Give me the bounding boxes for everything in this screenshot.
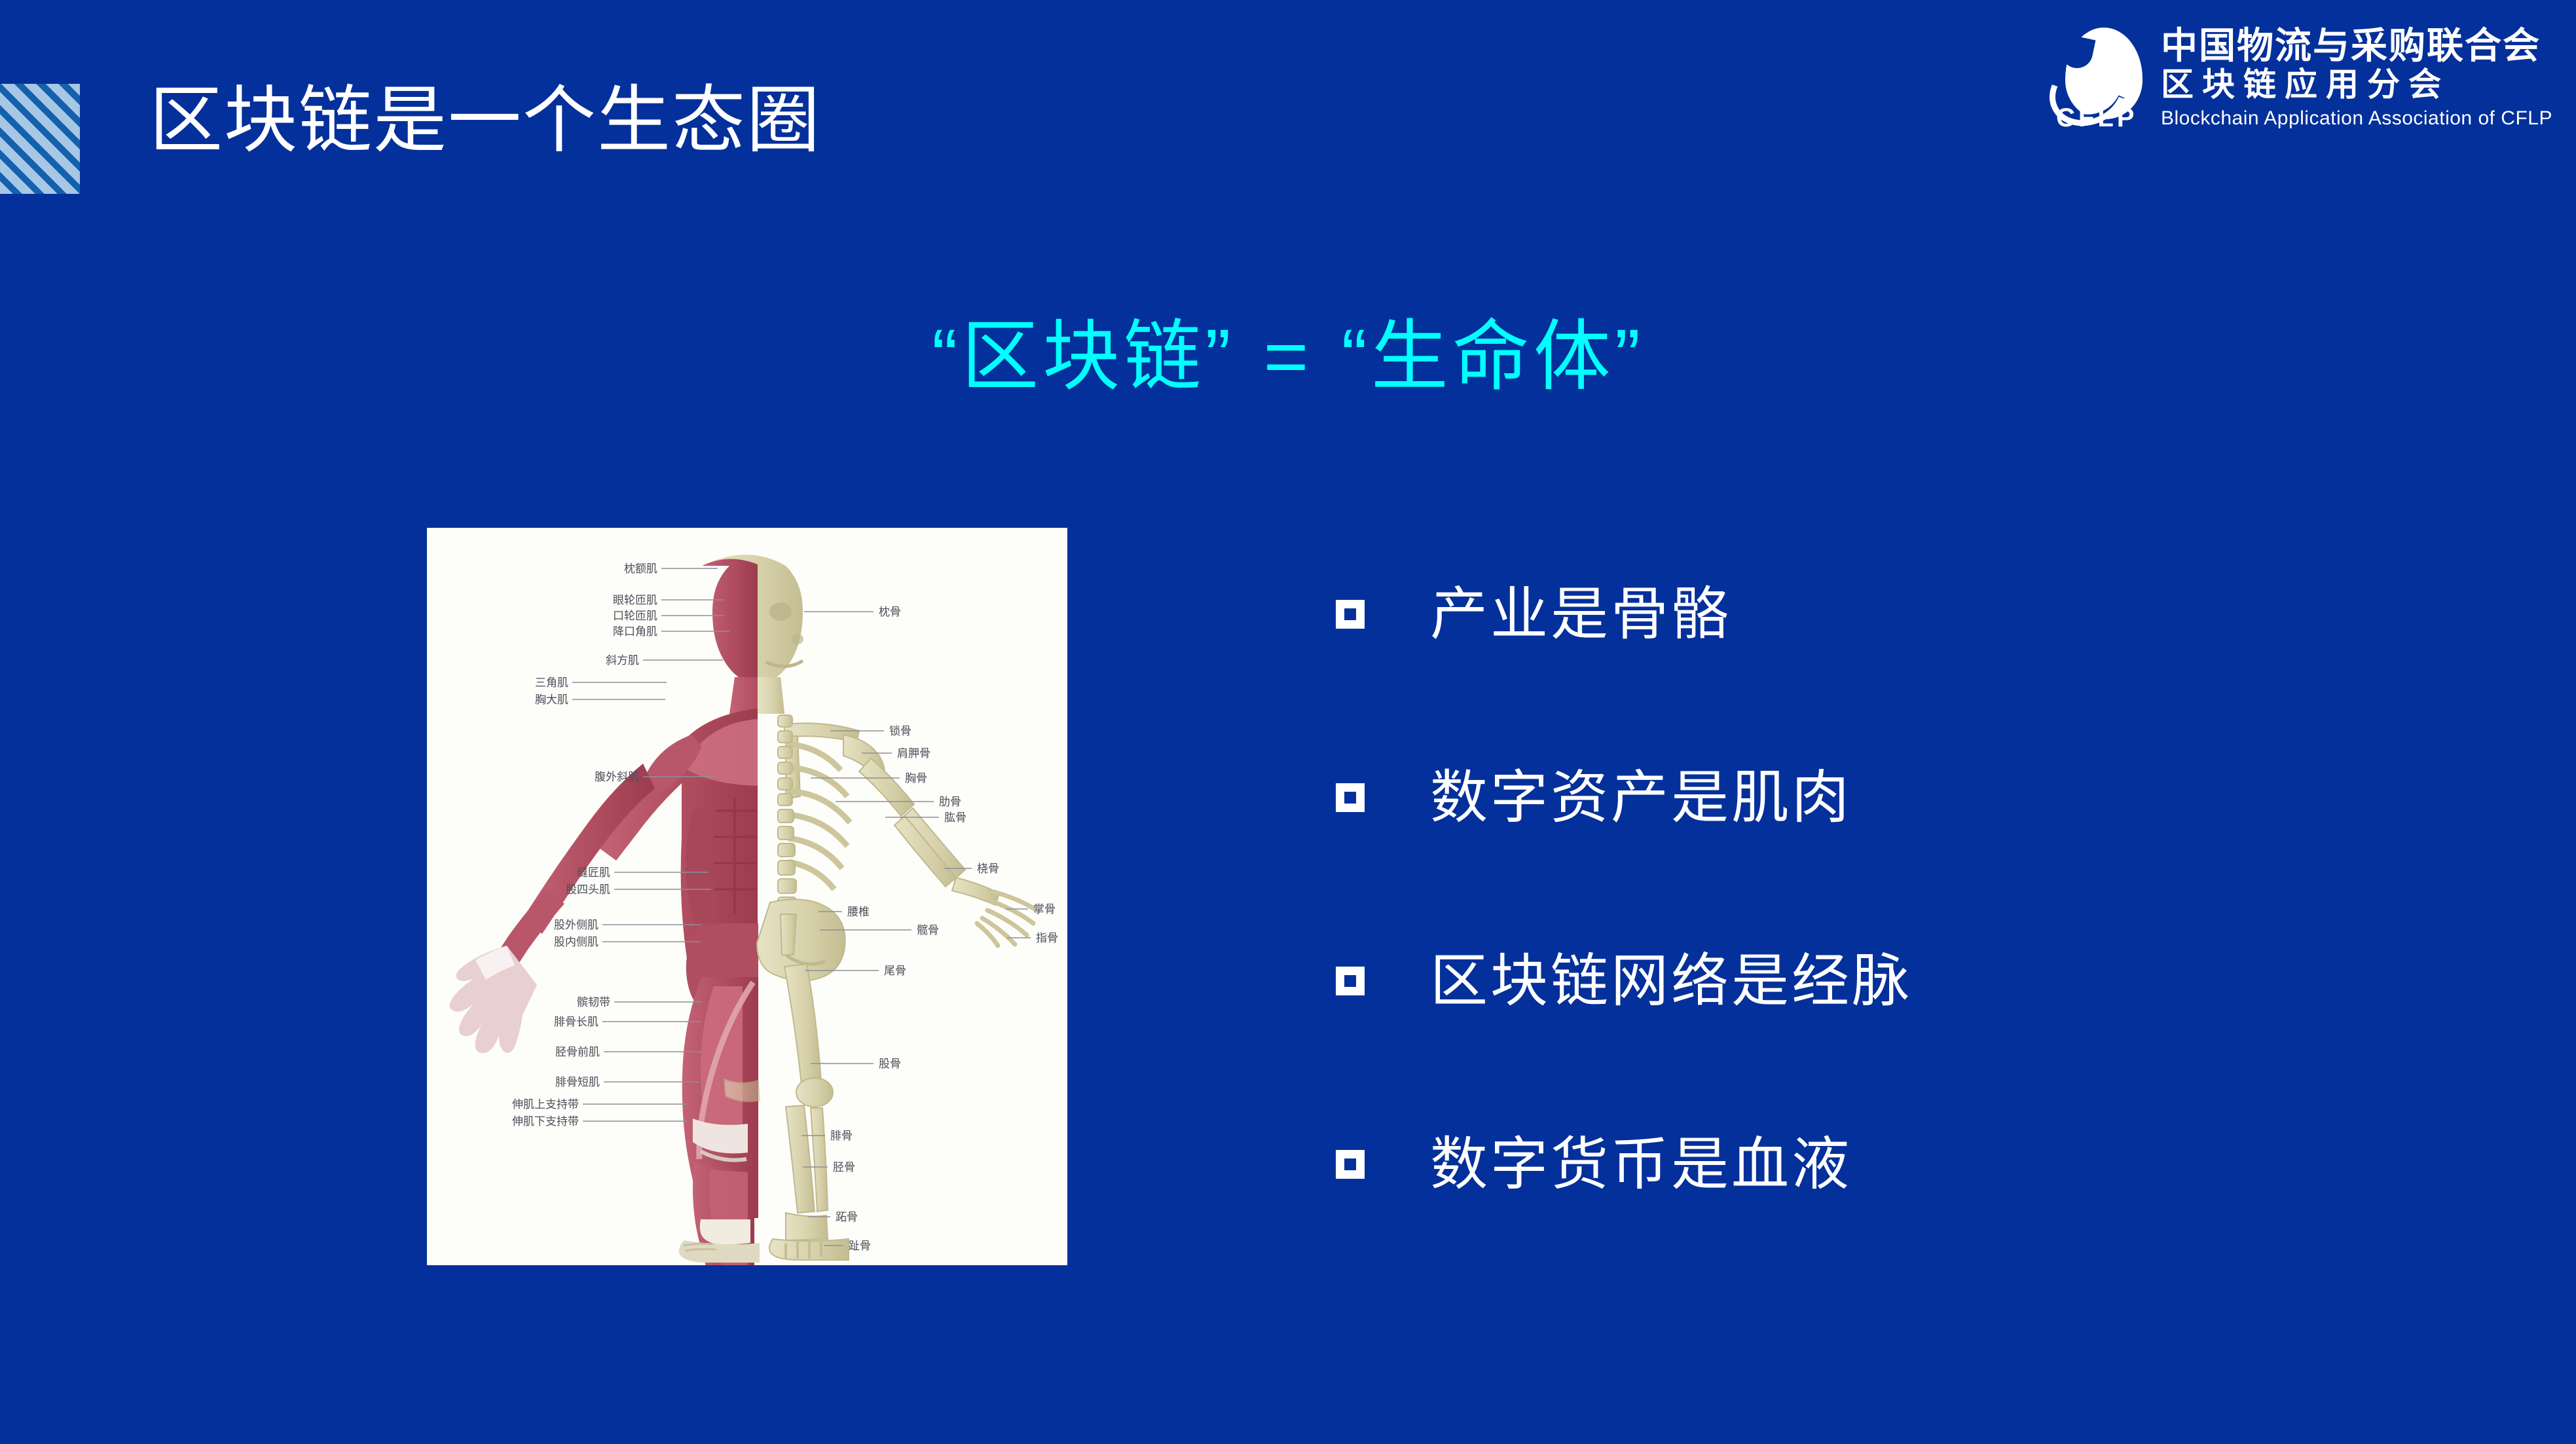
svg-text:锁骨: 锁骨 [889,725,911,738]
svg-text:肩胛骨: 肩胛骨 [897,747,930,760]
logo-branch-name-cn: 区块链应用分会 [2161,66,2552,104]
square-bullet-icon [1336,783,1365,812]
anatomy-illustration: 枕额肌 眼轮匝肌 口轮匝肌 降口角肌 斜方肌 三角肌 胸大肌 腹外斜肌 缝匠肌 … [427,528,1067,1265]
svg-text:降口角肌: 降口角肌 [613,625,657,639]
equation-operator: = [1264,312,1313,401]
bullet-list: 产业是骨骼 数字资产是肌肉 区块链网络是经脉 数字货币是血液 [1336,549,2383,1230]
svg-text:胫骨: 胫骨 [833,1161,855,1174]
svg-text:股骨: 股骨 [879,1058,901,1071]
svg-text:胸大肌: 胸大肌 [535,694,568,707]
svg-text:枕额肌: 枕额肌 [624,563,657,576]
cflp-emblem-icon: CFLP [2051,21,2149,136]
cflp-logo: CFLP 中国物流与采购联合会 区块链应用分会 Blockchain Appli… [2051,16,2552,140]
list-item-label: 数字货币是血液 [1430,1136,1852,1193]
svg-text:胸骨: 胸骨 [905,772,927,785]
svg-text:腓骨短肌: 腓骨短肌 [555,1076,600,1089]
svg-text:股内侧肌: 股内侧肌 [554,936,598,949]
svg-text:股外侧肌: 股外侧肌 [554,919,598,932]
list-item-label: 产业是骨骼 [1430,585,1731,643]
svg-text:腰椎: 腰椎 [847,906,870,919]
svg-text:桡骨: 桡骨 [977,862,999,876]
svg-text:胫骨前肌: 胫骨前肌 [555,1046,600,1059]
list-item: 产业是骨骼 [1336,549,2383,680]
square-bullet-icon [1336,967,1365,995]
svg-text:尾骨: 尾骨 [884,965,906,978]
logo-name-en: Blockchain Application Association of CF… [2161,107,2552,130]
svg-text:口轮匝肌: 口轮匝肌 [613,610,657,623]
svg-text:腓骨长肌: 腓骨长肌 [554,1016,598,1029]
equation-heading: “区块链”=“生命体” [0,293,2576,405]
svg-text:眼轮匝肌: 眼轮匝肌 [613,594,657,607]
slide-canvas: 区块链是一个生态圈 CFLP 中国物流与采购联合会 区块链应用分会 Blockc… [0,0,2576,1444]
svg-text:跖骨: 跖骨 [836,1211,858,1224]
square-bullet-icon [1336,1150,1365,1179]
list-item-label: 区块链网络是经脉 [1430,952,1912,1010]
svg-text:缝匠肌: 缝匠肌 [577,866,610,879]
equation-right-term: “生命体” [1341,314,1644,400]
list-item: 区块链网络是经脉 [1336,916,2383,1046]
svg-text:肱骨: 肱骨 [944,811,966,824]
diagonal-stripe-decoration [0,84,80,194]
svg-text:腹外斜肌: 腹外斜肌 [595,771,639,784]
list-item: 数字资产是肌肉 [1336,732,2383,863]
svg-text:三角肌: 三角肌 [535,676,568,690]
svg-text:伸肌下支持带: 伸肌下支持带 [512,1115,579,1128]
anatomy-image: 枕额肌 眼轮匝肌 口轮匝肌 降口角肌 斜方肌 三角肌 胸大肌 腹外斜肌 缝匠肌 … [427,528,1067,1265]
svg-text:趾骨: 趾骨 [849,1240,871,1253]
equation-left-term: “区块链” [932,314,1235,400]
logo-org-name-cn: 中国物流与采购联合会 [2161,26,2552,66]
svg-text:指骨: 指骨 [1036,932,1058,945]
svg-text:腓骨: 腓骨 [830,1130,853,1143]
svg-text:股四头肌: 股四头肌 [566,883,610,897]
list-item: 数字货币是血液 [1336,1099,2383,1230]
svg-text:髌韧带: 髌韧带 [577,996,610,1009]
svg-text:髋骨: 髋骨 [917,924,939,937]
logo-text-block: 中国物流与采购联合会 区块链应用分会 Blockchain Applicatio… [2161,26,2552,130]
list-item-label: 数字资产是肌肉 [1430,769,1852,826]
page-title: 区块链是一个生态圈 [149,77,821,164]
svg-text:枕骨: 枕骨 [879,606,901,619]
svg-text:伸肌上支持带: 伸肌上支持带 [512,1098,579,1111]
logo-abbrev: CFLP [2056,103,2137,133]
svg-text:掌骨: 掌骨 [1033,903,1056,916]
square-bullet-icon [1336,600,1365,629]
svg-text:斜方肌: 斜方肌 [606,654,639,667]
svg-text:肋骨: 肋骨 [939,796,961,809]
